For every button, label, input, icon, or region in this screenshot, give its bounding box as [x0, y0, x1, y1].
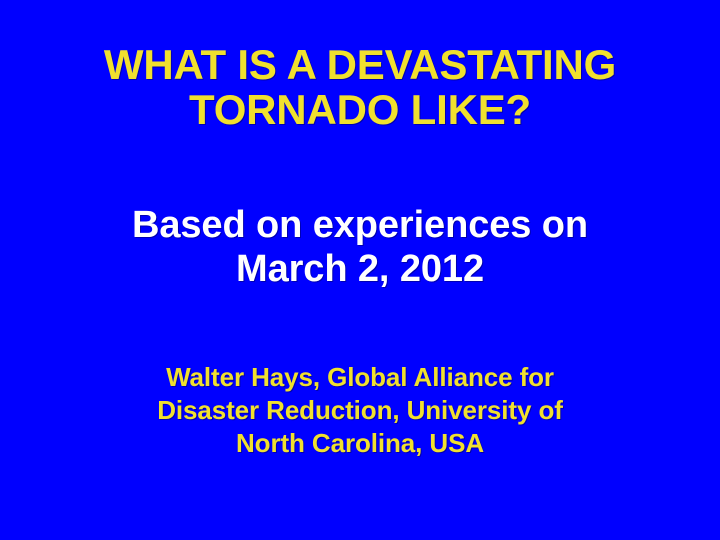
slide-author-credit: Walter Hays, Global Alliance for Disaste…	[0, 361, 720, 460]
subtitle-line-1: Based on experiences on	[0, 203, 720, 247]
title-line-1: WHAT IS A DEVASTATING	[0, 42, 720, 87]
credit-line-1: Walter Hays, Global Alliance for	[0, 361, 720, 394]
slide-title: WHAT IS A DEVASTATING TORNADO LIKE?	[0, 42, 720, 132]
credit-line-3: North Carolina, USA	[0, 427, 720, 460]
title-line-2: TORNADO LIKE?	[0, 87, 720, 132]
credit-line-2: Disaster Reduction, University of	[0, 394, 720, 427]
slide-subtitle: Based on experiences on March 2, 2012	[0, 203, 720, 291]
presentation-slide: WHAT IS A DEVASTATING TORNADO LIKE? Base…	[0, 0, 720, 540]
subtitle-line-2: March 2, 2012	[0, 247, 720, 291]
